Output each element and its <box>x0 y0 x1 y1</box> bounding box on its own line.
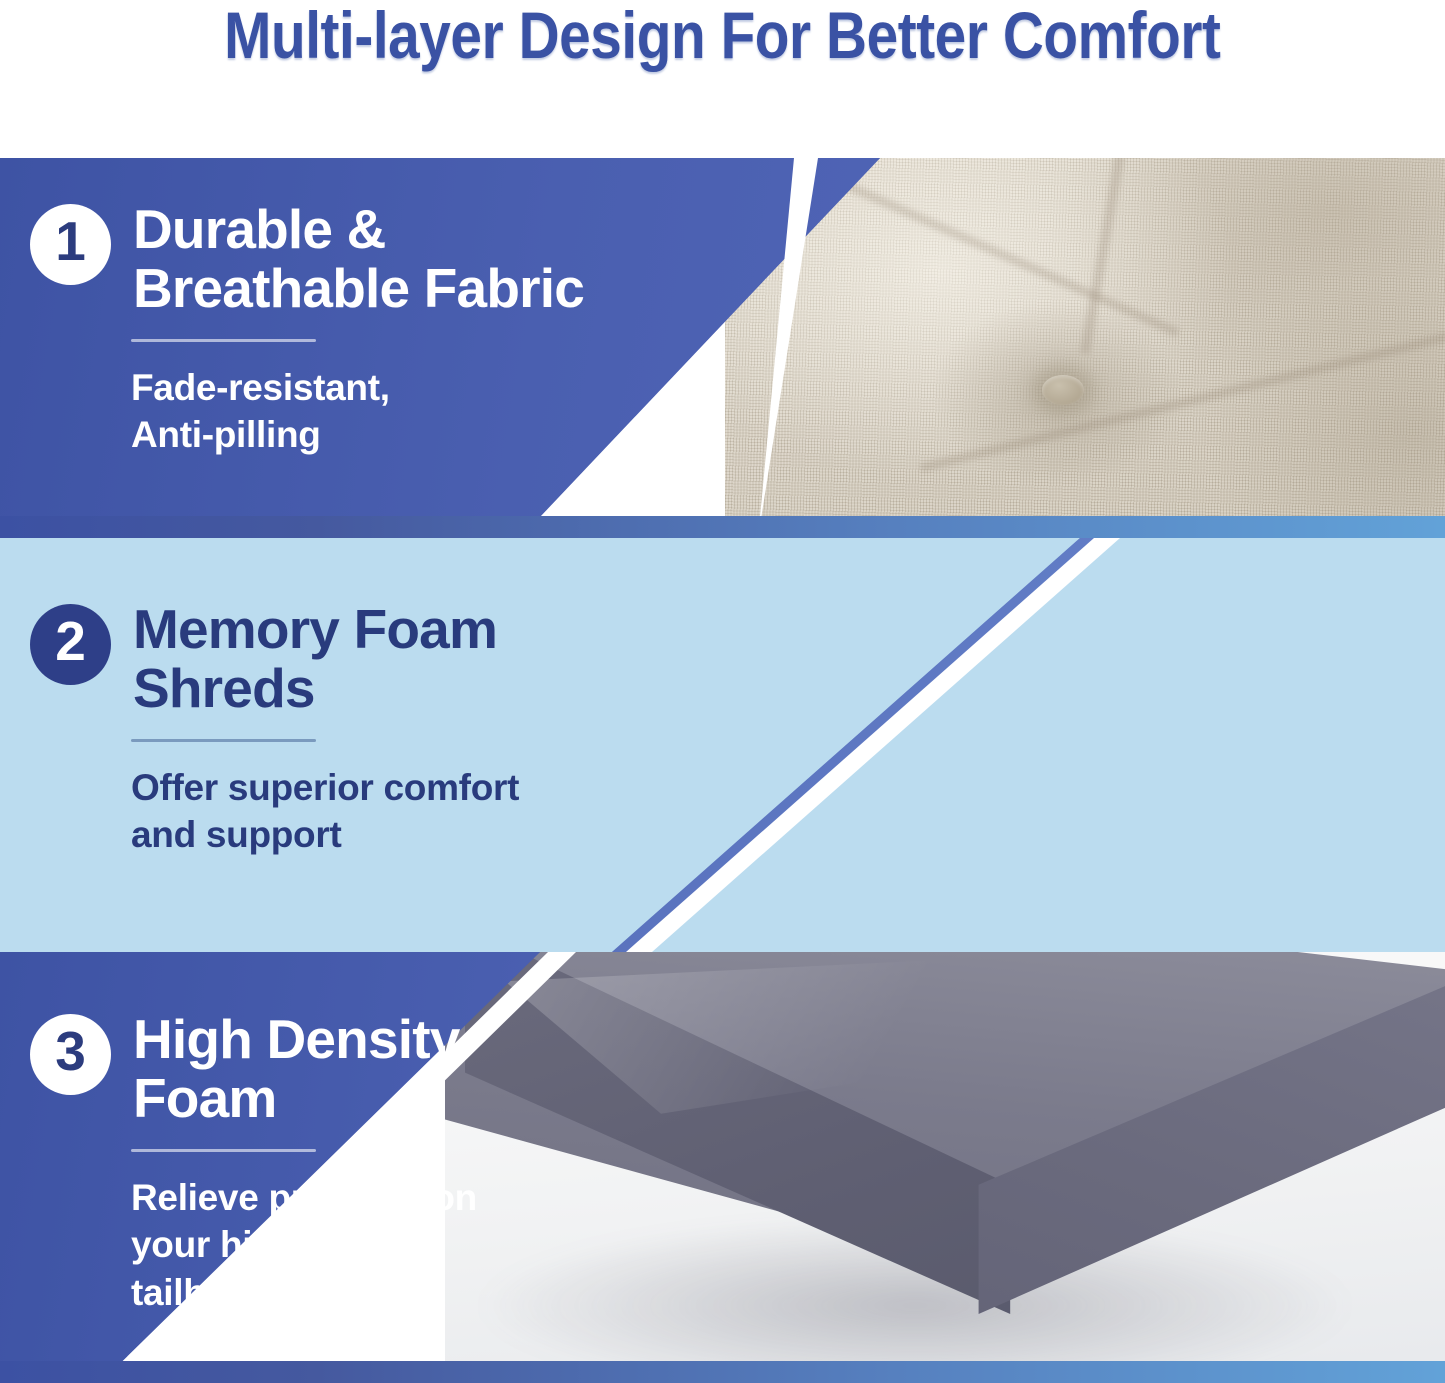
feature-panel-3: 3 High Density Foam Relieve pressure on … <box>0 952 1445 1383</box>
panel-1-heading: Durable & Breathable Fabric <box>133 200 584 319</box>
panel-1-divider <box>131 339 316 342</box>
panel-1-text-block: 1 Durable & Breathable Fabric Fade-resis… <box>30 200 590 459</box>
step-number-badge-1: 1 <box>30 204 111 285</box>
panel-3-heading-row: 3 High Density Foam <box>30 1010 590 1129</box>
panel-3-heading: High Density Foam <box>133 1010 460 1129</box>
step-number-1: 1 <box>55 214 86 269</box>
multi-layer-design-infographic: Multi-layer Design For Better Comfort 1 … <box>0 0 1445 1383</box>
grey-foam-block-photo <box>445 952 1445 1383</box>
panel-3-text-block: 3 High Density Foam Relieve pressure on … <box>30 1010 590 1316</box>
linen-fabric-closeup-photo <box>725 158 1445 538</box>
panel-2-heading: Memory Foam Shreds <box>133 600 497 719</box>
page-title: Multi-layer Design For Better Comfort <box>224 0 1220 68</box>
divider-strip-top <box>0 516 1445 538</box>
divider-strip-bottom <box>0 1361 1445 1383</box>
panel-2-subtext: Offer superior comfort and support <box>131 764 590 859</box>
panel-2-text-block: 2 Memory Foam Shreds Offer superior comf… <box>30 600 590 859</box>
foam-block <box>445 952 1445 1383</box>
step-number-badge-3: 3 <box>30 1014 111 1095</box>
tuft-button-dimple <box>1042 375 1084 405</box>
panel-1-heading-row: 1 Durable & Breathable Fabric <box>30 200 590 319</box>
step-number-3: 3 <box>55 1024 86 1079</box>
title-bar: Multi-layer Design For Better Comfort <box>0 0 1445 158</box>
step-number-2: 2 <box>55 614 86 669</box>
panel-1-photo-region <box>725 158 1445 538</box>
feature-panel-1: 1 Durable & Breathable Fabric Fade-resis… <box>0 158 1445 538</box>
panel-2-heading-row: 2 Memory Foam Shreds <box>30 600 590 719</box>
panel-3-photo-region <box>445 952 1445 1383</box>
panel-3-divider <box>131 1149 316 1152</box>
panel-3-subtext: Relieve pressure on your hips and tailbo… <box>131 1174 590 1316</box>
panel-1-subtext: Fade-resistant, Anti-pilling <box>131 364 590 459</box>
step-number-badge-2: 2 <box>30 604 111 685</box>
panel-2-divider <box>131 739 316 742</box>
feature-panel-2: 2 Memory Foam Shreds Offer superior comf… <box>0 538 1445 952</box>
